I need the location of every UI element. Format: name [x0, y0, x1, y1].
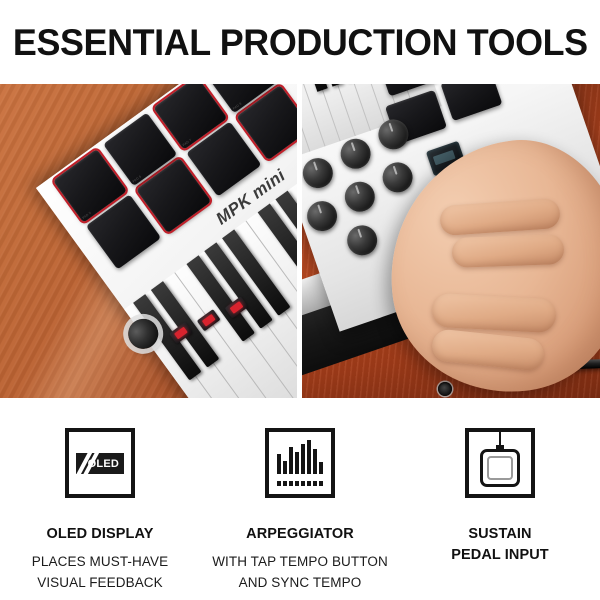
feature-subtitle: PLACES MUST-HAVE VISUAL FEEDBACK	[32, 551, 168, 595]
arpeggiator-bar	[307, 440, 311, 474]
headline-band: ESSENTIAL PRODUCTION TOOLS	[0, 0, 600, 84]
control-knob	[302, 154, 337, 192]
control-knob	[337, 135, 375, 173]
feature-title-line: ARPEGGIATOR	[246, 524, 354, 545]
finger	[431, 293, 557, 333]
arpeggiator-step	[295, 481, 299, 486]
feature-title: ARPEGGIATOR	[246, 524, 354, 545]
feature-row: OLED OLED DISPLAY PLACES MUST-HAVE VISUA…	[0, 398, 600, 600]
pedal-body-glyph	[480, 449, 520, 487]
arpeggiator-bar	[295, 452, 299, 474]
arpeggiator-chart	[277, 440, 323, 486]
control-knob	[379, 158, 417, 196]
page-title: ESSENTIAL PRODUCTION TOOLS	[13, 24, 588, 61]
feature-title: SUSTAIN PEDAL INPUT	[451, 524, 549, 565]
sustain-pedal-jack	[438, 382, 452, 396]
arpeggiator-step	[319, 481, 323, 486]
pedal-cord-icon	[499, 432, 501, 446]
arpeggiator-step	[277, 481, 281, 486]
feature-title-line: PEDAL INPUT	[451, 545, 549, 566]
drum-pad	[440, 84, 502, 121]
feature-sustain-pedal-input: SUSTAIN PEDAL INPUT	[400, 398, 600, 600]
arpeggiator-step	[307, 481, 311, 486]
arpeggiator-step	[301, 481, 305, 486]
feature-subtitle-line: WITH TAP TEMPO BUTTON	[212, 551, 388, 573]
arpeggiator-bars-icon	[265, 428, 335, 498]
product-feature-graphic: ESSENTIAL PRODUCTION TOOLS	[0, 0, 600, 600]
arpeggiator-step-row	[277, 481, 323, 486]
oled-screen-glyph: OLED	[76, 453, 124, 474]
arpeggiator-bar	[283, 461, 287, 474]
pedal-plate-glyph	[487, 456, 513, 480]
oled-display-icon: OLED	[65, 428, 135, 498]
feature-title-line: OLED DISPLAY	[46, 524, 153, 545]
feature-title-line: SUSTAIN	[451, 524, 549, 545]
feature-oled-display: OLED OLED DISPLAY PLACES MUST-HAVE VISUA…	[0, 398, 200, 600]
sustain-pedal-icon	[465, 428, 535, 498]
feature-subtitle-line: AND SYNC TEMPO	[212, 572, 388, 594]
oled-icon-label: OLED	[88, 458, 119, 470]
feature-subtitle: WITH TAP TEMPO BUTTON AND SYNC TEMPO	[212, 551, 388, 595]
arpeggiator-step	[313, 481, 317, 486]
photo-mpk-mini-on-desk: PAD 5 PAD 6 PAD 7 PAD 8 K1 K2 MPK mini	[0, 84, 297, 398]
feature-subtitle-line: VISUAL FEEDBACK	[32, 572, 168, 594]
arpeggiator-bar	[289, 447, 293, 474]
photo-hand-plugging-cable	[302, 84, 600, 398]
arpeggiator-bar	[313, 449, 317, 474]
control-knob	[343, 221, 381, 259]
arpeggiator-step	[283, 481, 287, 486]
feature-title: OLED DISPLAY	[46, 524, 153, 545]
arpeggiator-bar-series	[277, 440, 323, 474]
arpeggiator-bar	[301, 444, 305, 474]
feature-arpeggiator: ARPEGGIATOR WITH TAP TEMPO BUTTON AND SY…	[200, 398, 400, 600]
control-knob	[303, 197, 341, 235]
arpeggiator-bar	[319, 462, 323, 474]
arpeggiator-step	[289, 481, 293, 486]
feature-subtitle-line: PLACES MUST-HAVE	[32, 551, 168, 573]
finger	[452, 234, 565, 268]
arpeggiator-bar	[277, 454, 281, 474]
photo-band: PAD 5 PAD 6 PAD 7 PAD 8 K1 K2 MPK mini	[0, 84, 600, 398]
control-knob	[341, 178, 379, 216]
